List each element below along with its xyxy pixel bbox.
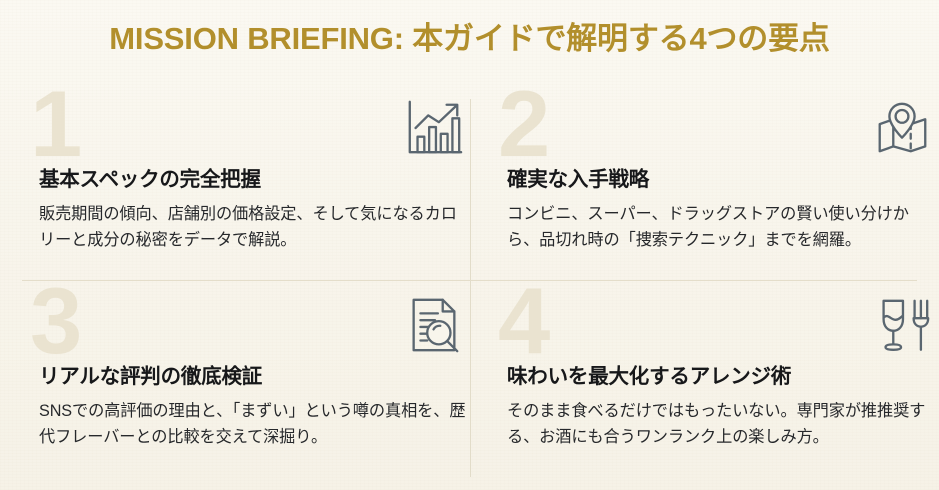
point-heading: 味わいを最大化するアレンジ術 — [507, 364, 791, 390]
point-body: 販売期間の傾向、店舗別の価格設定、そして気になるカロリーと成分の秘密をデータで解… — [39, 201, 469, 253]
bar-chart-growth-icon — [403, 97, 465, 159]
page-title: MISSION BRIEFING: 本ガイドで解明する4つの要点 — [0, 20, 939, 57]
horizontal-divider — [22, 280, 917, 281]
point-heading: 基本スペックの完全把握 — [39, 167, 261, 193]
briefing-points-grid: 1 基本スペックの完全把握 販売期間の傾向、店舗別の価格設定、そして気になるカロ… — [0, 85, 939, 490]
point-body: コンビニ、スーパー、ドラッグストアの賢い使い分けから、品切れ時の「捜索テクニック… — [507, 201, 937, 253]
briefing-point-3: 3 リアルな評判の徹底検証 SNSでの高評価の理由と、「まずい」という噂の真相を… — [22, 282, 477, 477]
briefing-point-4: 4 味わいを最大化するアレンジ術 そのまま食べるだけではもったいない。専門家が推… — [490, 282, 939, 477]
point-number-watermark: 3 — [30, 280, 82, 363]
point-heading: 確実な入手戦略 — [507, 167, 649, 193]
briefing-point-1: 1 基本スペックの完全把握 販売期間の傾向、店舗別の価格設定、そして気になるカロ… — [22, 85, 477, 280]
briefing-point-2: 2 確実な入手戦略 コンビニ、スーパー、ドラッグストアの賢い使い分けから、品切れ… — [490, 85, 939, 280]
point-body: SNSでの高評価の理由と、「まずい」という噂の真相を、歴代フレーバーとの比較を交… — [39, 398, 469, 450]
point-body: そのまま食べるだけではもったいない。専門家が推推奨する、お酒にも合うワンランク上… — [507, 398, 937, 450]
wine-glass-fork-icon — [871, 294, 933, 356]
point-number-watermark: 2 — [498, 83, 550, 166]
point-number-watermark: 1 — [30, 83, 82, 166]
page-title-text: MISSION BRIEFING: 本ガイドで解明する4つの要点 — [109, 20, 829, 57]
map-location-pin-icon — [871, 97, 933, 159]
mission-briefing-infographic: MISSION BRIEFING: 本ガイドで解明する4つの要点 1 基本スペッ… — [0, 0, 939, 490]
document-magnifier-icon — [403, 294, 465, 356]
point-heading: リアルな評判の徹底検証 — [39, 364, 262, 390]
point-number-watermark: 4 — [498, 280, 550, 363]
